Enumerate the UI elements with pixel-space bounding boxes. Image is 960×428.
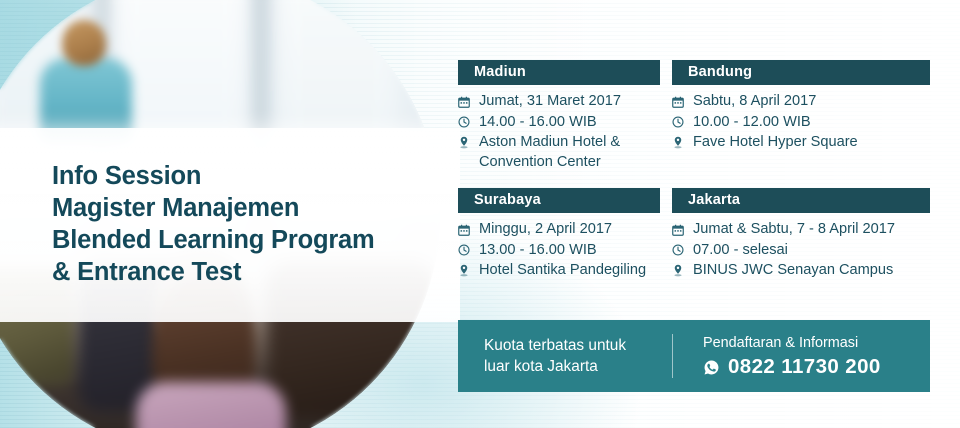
- event-venue-text: Fave Hotel Hyper Square: [693, 133, 930, 153]
- event-time-text: 14.00 - 16.00 WIB: [479, 113, 660, 133]
- location-pin-icon: [458, 133, 476, 152]
- event-date-text: Jumat, 31 Maret 2017: [479, 92, 660, 112]
- event-venue-row: BINUS JWC Senayan Campus: [672, 261, 930, 281]
- event-venue-text: Aston Madiun Hotel & Convention Center: [479, 133, 660, 172]
- event-time-text: 10.00 - 12.00 WIB: [693, 113, 930, 133]
- event-card-surabaya: Surabaya Minggu, 2 April 2017 13.00 - 16…: [458, 188, 660, 282]
- event-venue-text: Hotel Santika Pandegiling: [479, 261, 660, 281]
- event-time-text: 13.00 - 16.00 WIB: [479, 241, 660, 261]
- clock-icon: [458, 241, 476, 260]
- event-date-text: Minggu, 2 April 2017: [479, 220, 660, 240]
- event-date-row: Sabtu, 8 April 2017: [672, 92, 930, 112]
- event-city-surabaya: Surabaya: [458, 188, 660, 213]
- event-time-row: 14.00 - 16.00 WIB: [458, 113, 660, 133]
- event-card-jakarta: Jakarta Jumat & Sabtu, 7 - 8 April 2017 …: [672, 188, 930, 282]
- event-card-madiun: Madiun Jumat, 31 Maret 2017 14.00 - 16.0…: [458, 60, 660, 173]
- contact-phone-number: 0822 11730 200: [728, 355, 881, 379]
- event-city-madiun: Madiun: [458, 60, 660, 85]
- contact-footer-bar: Kuota terbatas untuk luar kota Jakarta P…: [458, 320, 930, 392]
- event-venue-row: Fave Hotel Hyper Square: [672, 133, 930, 153]
- clock-icon: [672, 241, 690, 260]
- event-details-madiun: Jumat, 31 Maret 2017 14.00 - 16.00 WIB A…: [458, 85, 660, 172]
- event-details-surabaya: Minggu, 2 April 2017 13.00 - 16.00 WIB H…: [458, 213, 660, 281]
- promo-banner: Info Session Magister Manajemen Blended …: [0, 0, 960, 428]
- location-pin-icon: [458, 261, 476, 280]
- calendar-icon: [672, 220, 690, 239]
- contact-label: Pendaftaran & Informasi: [703, 333, 881, 353]
- event-card-bandung: Bandung Sabtu, 8 April 2017 10.00 - 12.0…: [672, 60, 930, 154]
- whatsapp-icon: [703, 359, 720, 376]
- event-time-row: 13.00 - 16.00 WIB: [458, 241, 660, 261]
- location-pin-icon: [672, 261, 690, 280]
- event-date-row: Jumat & Sabtu, 7 - 8 April 2017: [672, 220, 930, 240]
- event-date-text: Sabtu, 8 April 2017: [693, 92, 930, 112]
- location-pin-icon: [672, 133, 690, 152]
- event-details-bandung: Sabtu, 8 April 2017 10.00 - 12.00 WIB Fa…: [672, 85, 930, 153]
- quota-note: Kuota terbatas untuk luar kota Jakarta: [458, 335, 672, 377]
- contact-phone[interactable]: 0822 11730 200: [703, 355, 881, 379]
- calendar-icon: [672, 92, 690, 111]
- event-city-jakarta: Jakarta: [672, 188, 930, 213]
- event-venue-row: Hotel Santika Pandegiling: [458, 261, 660, 281]
- event-time-text: 07.00 - selesai: [693, 241, 930, 261]
- event-city-bandung: Bandung: [672, 60, 930, 85]
- quota-note-line-1: Kuota terbatas untuk: [484, 335, 672, 356]
- clock-icon: [458, 113, 476, 132]
- contact-block: Pendaftaran & Informasi 0822 11730 200: [673, 333, 881, 379]
- event-date-row: Jumat, 31 Maret 2017: [458, 92, 660, 112]
- event-details-jakarta: Jumat & Sabtu, 7 - 8 April 2017 07.00 - …: [672, 213, 930, 281]
- event-venue-row: Aston Madiun Hotel & Convention Center: [458, 133, 660, 172]
- calendar-icon: [458, 220, 476, 239]
- quota-note-line-2: luar kota Jakarta: [484, 356, 672, 377]
- calendar-icon: [458, 92, 476, 111]
- clock-icon: [672, 113, 690, 132]
- event-date-text: Jumat & Sabtu, 7 - 8 April 2017: [693, 220, 930, 240]
- event-time-row: 07.00 - selesai: [672, 241, 930, 261]
- event-date-row: Minggu, 2 April 2017: [458, 220, 660, 240]
- event-venue-text: BINUS JWC Senayan Campus: [693, 261, 930, 281]
- event-time-row: 10.00 - 12.00 WIB: [672, 113, 930, 133]
